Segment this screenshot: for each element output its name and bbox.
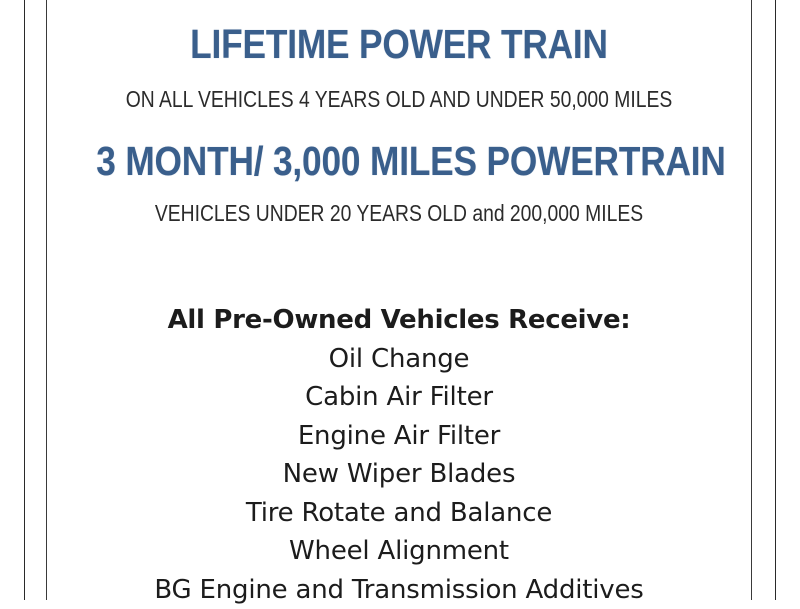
page-frame-rule-outer-right <box>775 0 776 600</box>
list-item: Oil Change <box>47 340 751 379</box>
preowned-services-section: All Pre-Owned Vehicles Receive: Oil Chan… <box>47 301 751 609</box>
page-frame-rule-inner-right <box>751 0 752 600</box>
list-item: BG Engine and Transmission Additives <box>47 571 751 609</box>
lifetime-powertrain-title: LIFETIME POWER TRAIN <box>96 24 701 66</box>
three-month-powertrain-subtitle: VEHICLES UNDER 20 YEARS OLD and 200,000 … <box>103 201 694 225</box>
three-month-powertrain-title: 3 MONTH/ 3,000 MILES POWERTRAIN <box>96 141 701 183</box>
list-item: Cabin Air Filter <box>47 378 751 417</box>
warranty-block-three-month-powertrain: 3 MONTH/ 3,000 MILES POWERTRAIN VEHICLES… <box>47 141 751 225</box>
list-item: Tire Rotate and Balance <box>47 494 751 533</box>
preowned-services-list: Oil Change Cabin Air Filter Engine Air F… <box>47 340 751 609</box>
list-item: Engine Air Filter <box>47 417 751 456</box>
page-frame-rule-outer-left <box>24 0 25 600</box>
lifetime-powertrain-subtitle: ON ALL VEHICLES 4 YEARS OLD AND UNDER 50… <box>103 87 694 111</box>
list-item: Wheel Alignment <box>47 532 751 571</box>
list-item: New Wiper Blades <box>47 455 751 494</box>
flyer-page: { "page": { "background_color": "#ffffff… <box>0 0 800 600</box>
flyer-content-sheet: LIFETIME POWER TRAIN ON ALL VEHICLES 4 Y… <box>47 0 751 600</box>
warranty-block-lifetime-powertrain: LIFETIME POWER TRAIN ON ALL VEHICLES 4 Y… <box>47 24 751 111</box>
preowned-services-heading: All Pre-Owned Vehicles Receive: <box>47 301 751 340</box>
